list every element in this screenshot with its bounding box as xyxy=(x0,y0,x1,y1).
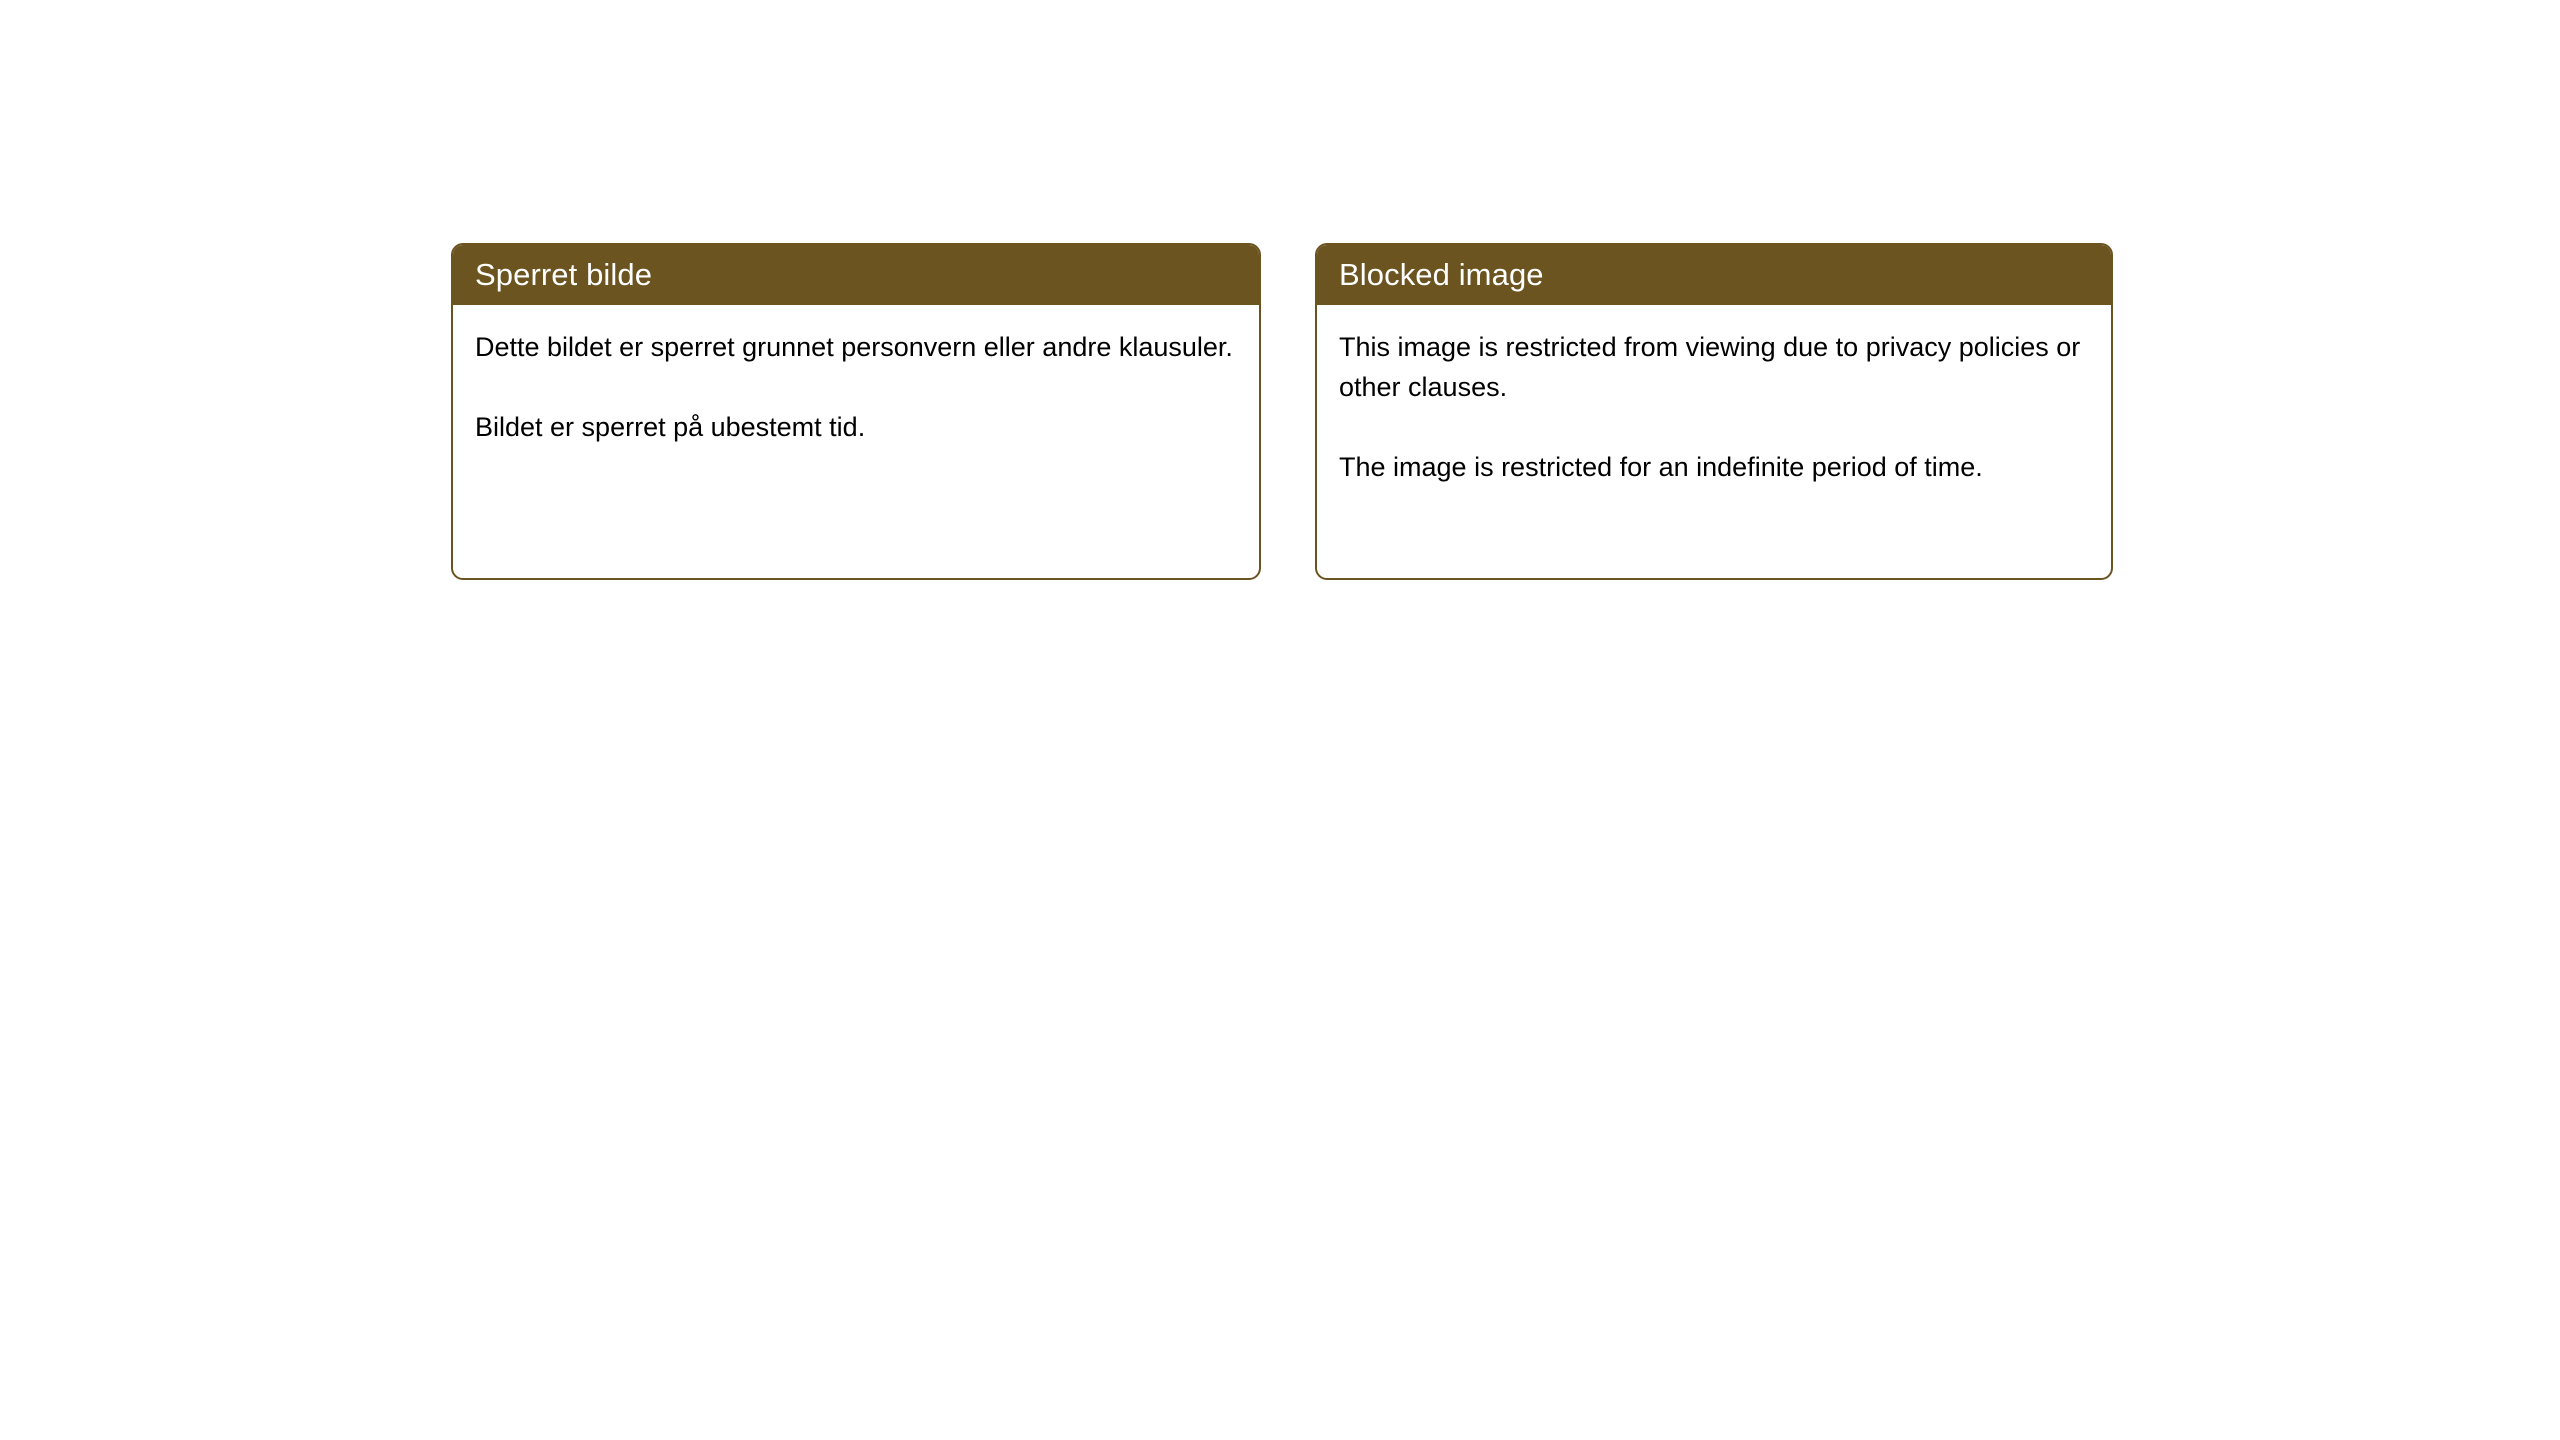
card-paragraph-secondary-english: The image is restricted for an indefinit… xyxy=(1339,447,2085,487)
card-paragraph-primary-norwegian: Dette bildet er sperret grunnet personve… xyxy=(475,327,1233,367)
card-body-norwegian: Dette bildet er sperret grunnet personve… xyxy=(453,305,1259,447)
card-paragraph-primary-english: This image is restricted from viewing du… xyxy=(1339,327,2085,407)
blocked-image-notice-norwegian: Sperret bilde Dette bildet er sperret gr… xyxy=(451,243,1261,580)
card-paragraph-secondary-norwegian: Bildet er sperret på ubestemt tid. xyxy=(475,407,1233,447)
card-body-english: This image is restricted from viewing du… xyxy=(1317,305,2111,487)
blocked-image-notice-english: Blocked image This image is restricted f… xyxy=(1315,243,2113,580)
page-canvas: Sperret bilde Dette bildet er sperret gr… xyxy=(0,0,2560,1440)
card-header-norwegian: Sperret bilde xyxy=(453,245,1259,305)
card-header-english: Blocked image xyxy=(1317,245,2111,305)
card-title-norwegian: Sperret bilde xyxy=(475,245,652,305)
card-title-english: Blocked image xyxy=(1339,245,1544,305)
